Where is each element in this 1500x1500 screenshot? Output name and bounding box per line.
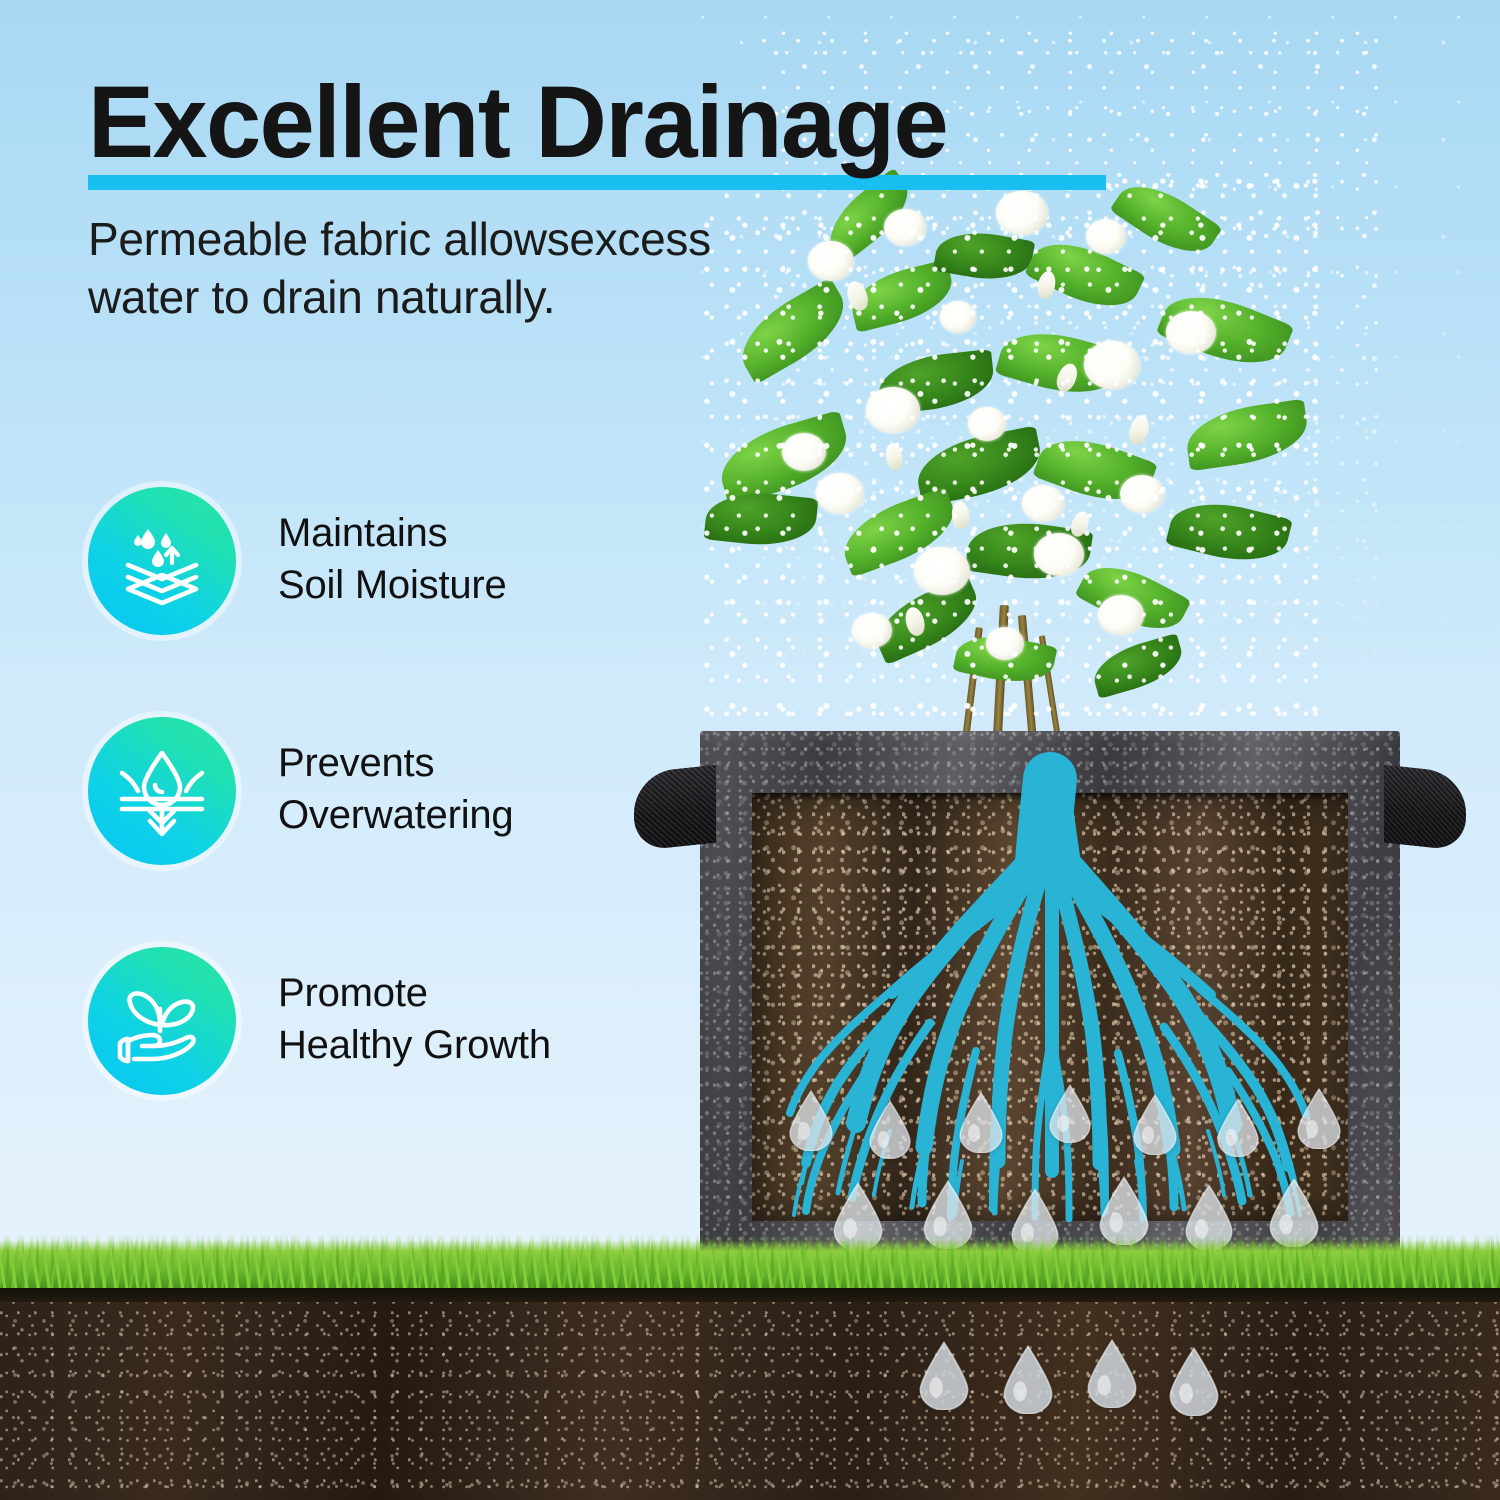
plant-leaf [1088,633,1188,699]
water-droplet [1086,1338,1138,1408]
water-droplet [958,1091,1004,1153]
plant-leaf [1109,170,1222,268]
feature-item-maintains-soil-moisture[interactable]: Maintains Soil Moisture [88,487,628,717]
infographic-canvas: Excellent Drainage Permeable fabric allo… [0,0,1500,1500]
plant-blossom [996,191,1048,235]
feature-list: Maintains Soil Moisture [88,487,628,1177]
bag-rim-shadow [752,793,1348,801]
feature-label-line-2: Soil Moisture [278,559,698,611]
plant-blossom [940,301,976,333]
plant-blossom [866,387,920,433]
water-droplet [868,1099,912,1159]
plant-blossom [986,627,1024,660]
water-droplet [918,1340,970,1410]
plant-blossom [1098,595,1144,635]
ground-soil-cross-section [0,1288,1500,1500]
plant-blossom [1120,475,1164,513]
headline-block: Excellent Drainage [88,70,1188,174]
grow-bag-handle-right [1384,765,1466,852]
plant-blossom [1086,219,1126,254]
feature-label: Maintains Soil Moisture [278,507,698,611]
feature-label: Promote Healthy Growth [278,967,698,1071]
water-droplet [788,1089,834,1151]
feature-label-line-1: Maintains [278,507,698,559]
water-droplet [1216,1097,1260,1157]
drop-on-permeable-membrane-icon [114,743,210,839]
fabric-grow-bag [700,731,1400,1293]
feature-item-prevents-overwatering[interactable]: Prevents Overwatering [88,717,628,947]
plant-bud [951,500,971,530]
page-subtitle: Permeable fabric allowsexcess water to d… [88,210,848,326]
water-drops-on-layers-icon [114,513,210,609]
feature-item-promote-healthy-growth[interactable]: Promote Healthy Growth [88,947,628,1177]
feature-label-line-1: Promote [278,967,698,1019]
plant-blossom [1166,311,1216,354]
page-title: Excellent Drainage [88,70,1155,174]
plant-blossom [1034,533,1084,576]
plant-leaf [1183,399,1312,471]
feature-icon-circle [88,717,236,865]
plant-blossom [1022,485,1064,522]
feature-icon-circle [88,947,236,1095]
plant-blossom [968,407,1006,441]
plant-blossom [914,547,970,595]
water-droplet [1132,1093,1178,1155]
feature-icon-circle [88,487,236,635]
water-droplet [1002,1344,1054,1414]
plant-leaf [704,487,819,550]
plant-bud [884,442,904,471]
plant-bud [1126,413,1152,447]
plant-blossom [1084,341,1140,389]
feature-label: Prevents Overwatering [278,737,698,841]
plant-blossom [852,613,892,648]
plant-blossom [782,433,826,471]
water-droplet [1048,1083,1092,1143]
subtitle-line-2: water to drain naturally. [88,268,848,326]
grass-blades [0,1234,1500,1294]
feature-label-line-2: Healthy Growth [278,1019,698,1071]
subtitle-line-1: Permeable fabric allowsexcess [88,210,848,268]
water-droplet [1168,1346,1220,1416]
plant-leaf [1165,492,1293,573]
feature-label-line-2: Overwatering [278,789,698,841]
hand-holding-sprout-icon [114,973,210,1069]
plant-blossom [884,209,926,246]
plant-blossom [816,473,864,514]
feature-label-line-1: Prevents [278,737,698,789]
water-droplet [1296,1087,1342,1149]
